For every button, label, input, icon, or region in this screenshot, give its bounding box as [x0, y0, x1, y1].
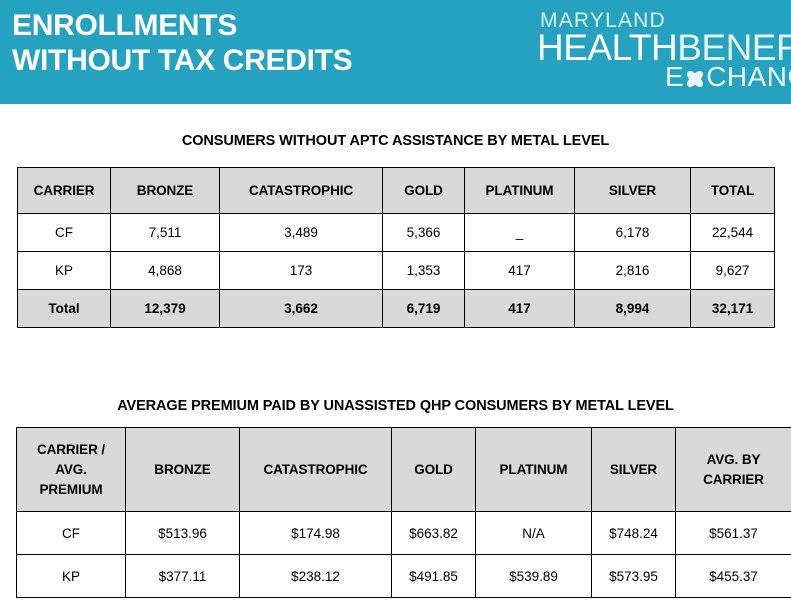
- maryland-health-benefit-exchange-logo: MARYLAND HEALTHBENEFIT ECHANGE: [537, 10, 791, 91]
- cell-bronze: $377.11: [126, 555, 240, 598]
- cell-bronze: 12,379: [111, 290, 220, 328]
- cell-catastrophic: 3,662: [220, 290, 383, 328]
- cell-carrier: KP: [18, 252, 111, 290]
- table-row: CF $513.96 $174.98 $663.82 N/A $748.24 $…: [17, 512, 791, 555]
- cell-gold: 1,353: [383, 252, 465, 290]
- cell-catastrophic: $174.98: [240, 512, 392, 555]
- cell-bronze: 7,511: [111, 214, 220, 252]
- table-consumers-without-aptc: CARRIER BRONZE CATASTROPHIC GOLD PLATINU…: [17, 167, 775, 328]
- logo-exchange-suffix: CHANGE: [706, 61, 791, 92]
- column-header-silver: SILVER: [575, 168, 691, 214]
- logo-line-exchange: ECHANGE: [665, 63, 791, 91]
- column-header-silver: SILVER: [592, 428, 676, 512]
- cell-carrier: KP: [17, 555, 126, 598]
- page-title: ENROLLMENTS WITHOUT TAX CREDITS: [12, 8, 352, 78]
- table-header-row: CARRIER BRONZE CATASTROPHIC GOLD PLATINU…: [18, 168, 775, 214]
- column-header-platinum: PLATINUM: [465, 168, 575, 214]
- butterfly-x-icon: [685, 69, 705, 89]
- logo-exchange-prefix: E: [665, 61, 684, 92]
- cell-total: 9,627: [691, 252, 775, 290]
- cell-silver: $573.95: [592, 555, 676, 598]
- cell-avg-by-carrier: $561.37: [676, 512, 791, 555]
- cell-bronze: 4,868: [111, 252, 220, 290]
- table-row: KP $377.11 $238.12 $491.85 $539.89 $573.…: [17, 555, 791, 598]
- cell-platinum: 417: [465, 252, 575, 290]
- table-header-row: CARRIER / AVG. PREMIUM BRONZE CATASTROPH…: [17, 428, 791, 512]
- cell-gold: 5,366: [383, 214, 465, 252]
- logo-word-health: HEALTH: [537, 27, 677, 68]
- cell-silver: 2,816: [575, 252, 691, 290]
- cell-carrier: Total: [18, 290, 111, 328]
- column-header-gold: GOLD: [392, 428, 476, 512]
- cell-platinum: $539.89: [476, 555, 592, 598]
- cell-total: 32,171: [691, 290, 775, 328]
- cell-gold: $491.85: [392, 555, 476, 598]
- section-title-consumers-without-aptc: CONSUMERS WITHOUT APTC ASSISTANCE BY MET…: [0, 133, 791, 149]
- column-header-carrier: CARRIER: [18, 168, 111, 214]
- cell-platinum: 417: [465, 290, 575, 328]
- cell-carrier: CF: [17, 512, 126, 555]
- cell-catastrophic: $238.12: [240, 555, 392, 598]
- page-header-banner: ENROLLMENTS WITHOUT TAX CREDITS MARYLAND…: [0, 0, 791, 104]
- column-header-avg-by-carrier: AVG. BY CARRIER: [676, 428, 791, 512]
- cell-total: 22,544: [691, 214, 775, 252]
- cell-platinum: _: [465, 214, 575, 252]
- cell-silver: 8,994: [575, 290, 691, 328]
- cell-bronze: $513.96: [126, 512, 240, 555]
- cell-catastrophic: 173: [220, 252, 383, 290]
- cell-silver: 6,178: [575, 214, 691, 252]
- column-header-gold: GOLD: [383, 168, 465, 214]
- table-row: CF 7,511 3,489 5,366 _ 6,178 22,544: [18, 214, 775, 252]
- column-header-carrier-avg-premium: CARRIER / AVG. PREMIUM: [17, 428, 126, 512]
- table-average-premium-by-metal-level: CARRIER / AVG. PREMIUM BRONZE CATASTROPH…: [16, 427, 791, 598]
- column-header-catastrophic: CATASTROPHIC: [240, 428, 392, 512]
- column-header-catastrophic: CATASTROPHIC: [220, 168, 383, 214]
- cell-silver: $748.24: [592, 512, 676, 555]
- column-header-total: TOTAL: [691, 168, 775, 214]
- cell-gold: 6,719: [383, 290, 465, 328]
- cell-gold: $663.82: [392, 512, 476, 555]
- cell-avg-by-carrier: $455.37: [676, 555, 791, 598]
- cell-catastrophic: 3,489: [220, 214, 383, 252]
- table-row: KP 4,868 173 1,353 417 2,816 9,627: [18, 252, 775, 290]
- table-total-row: Total 12,379 3,662 6,719 417 8,994 32,17…: [18, 290, 775, 328]
- cell-carrier: CF: [18, 214, 111, 252]
- column-header-platinum: PLATINUM: [476, 428, 592, 512]
- column-header-bronze: BRONZE: [126, 428, 240, 512]
- cell-platinum: N/A: [476, 512, 592, 555]
- section-title-average-premium: AVERAGE PREMIUM PAID BY UNASSISTED QHP C…: [0, 398, 791, 414]
- column-header-bronze: BRONZE: [111, 168, 220, 214]
